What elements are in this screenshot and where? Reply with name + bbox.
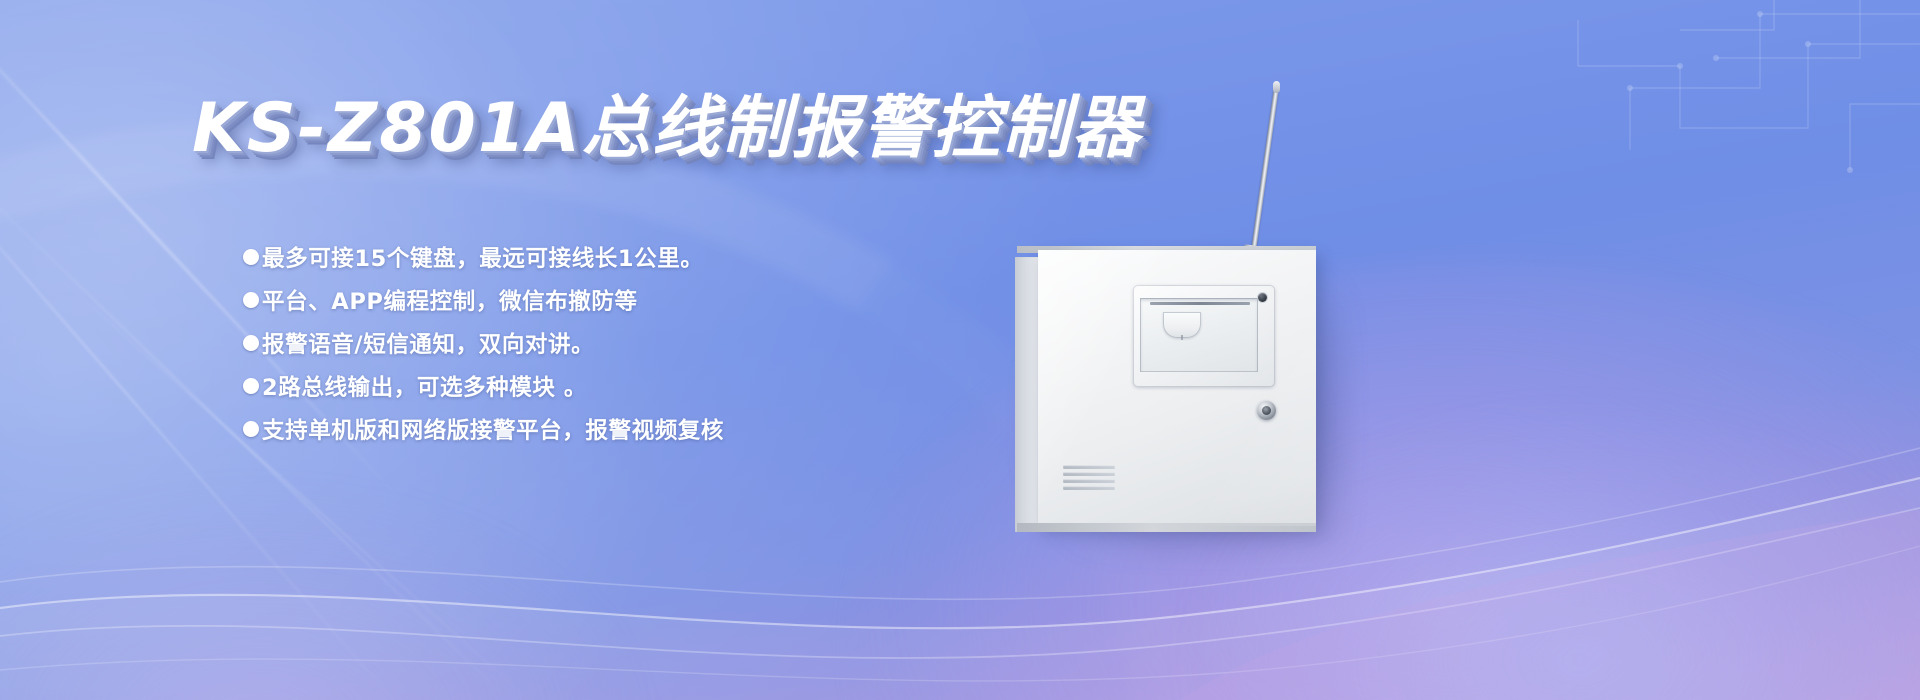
feature-text: 平台、APP编程控制，微信布撤防等 bbox=[262, 284, 638, 316]
antenna-tip bbox=[1273, 81, 1280, 93]
violet-glow-bottom-left bbox=[0, 490, 640, 700]
feature-text: 2路总线输出，可选多种模块 。 bbox=[262, 370, 587, 402]
feature-list: 最多可接15个键盘，最远可接线长1公里。 平台、APP编程控制，微信布撤防等 报… bbox=[243, 235, 1003, 450]
status-led-icon bbox=[1258, 293, 1267, 302]
vent-slat bbox=[1063, 472, 1115, 476]
feature-text: 支持单机版和网络版接警平台，报警视频复核 bbox=[262, 413, 724, 445]
list-item: 报警语音/短信通知，双向对讲。 bbox=[243, 321, 1003, 364]
vent-slat bbox=[1063, 465, 1115, 469]
vent-slat bbox=[1063, 479, 1115, 483]
filled-circle-bullet-icon bbox=[243, 421, 259, 437]
product-image-alarm-control-panel bbox=[1005, 85, 1455, 585]
keypad-window-recess bbox=[1140, 298, 1258, 372]
lock-keyhole-icon bbox=[1262, 406, 1271, 415]
feature-text: 报警语音/短信通知，双向对讲。 bbox=[262, 327, 594, 359]
ventilation-grille bbox=[1063, 465, 1115, 497]
filled-circle-bullet-icon bbox=[243, 335, 259, 351]
filled-circle-bullet-icon bbox=[243, 292, 259, 308]
enclosure-left-side bbox=[1015, 257, 1039, 532]
list-item: 2路总线输出，可选多种模块 。 bbox=[243, 364, 1003, 407]
door-lock bbox=[1257, 401, 1276, 420]
filled-circle-bullet-icon bbox=[243, 378, 259, 394]
keypad-handle-notch bbox=[1181, 335, 1183, 340]
vent-slat bbox=[1063, 486, 1115, 490]
keypad-slot bbox=[1150, 302, 1250, 305]
feature-text: 最多可接15个键盘，最远可接线长1公里。 bbox=[262, 241, 703, 273]
product-banner: KS-Z801A总线制报警控制器 最多可接15个键盘，最远可接线长1公里。 平台… bbox=[0, 0, 1920, 700]
list-item: 最多可接15个键盘，最远可接线长1公里。 bbox=[243, 235, 1003, 278]
keypad-window-panel bbox=[1133, 285, 1275, 387]
enclosure-bottom-edge bbox=[1017, 523, 1316, 532]
filled-circle-bullet-icon bbox=[243, 249, 259, 265]
page-title: KS-Z801A总线制报警控制器 bbox=[192, 72, 1142, 171]
list-item: 支持单机版和网络版接警平台，报警视频复核 bbox=[243, 407, 1003, 450]
list-item: 平台、APP编程控制，微信布撤防等 bbox=[243, 278, 1003, 321]
